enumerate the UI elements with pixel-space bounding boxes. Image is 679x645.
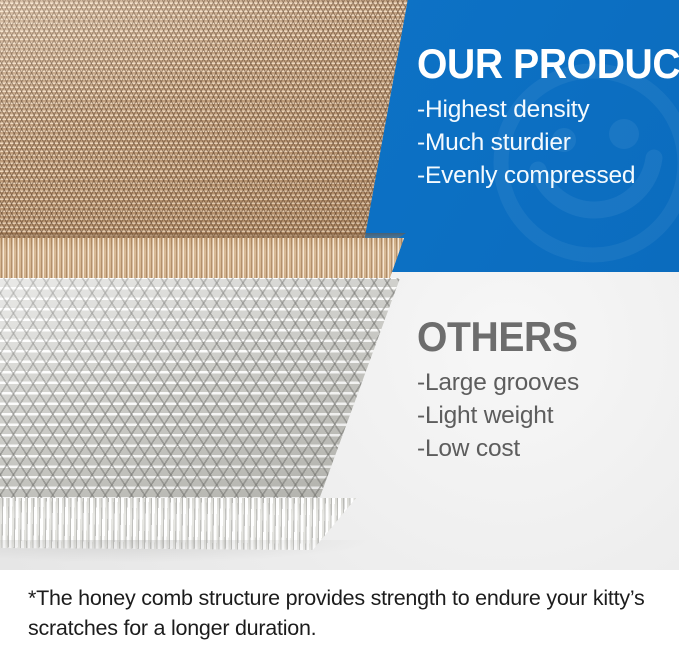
our-product-bullet-item: -Much sturdier [417, 126, 673, 159]
footnote-caption-text: *The honey comb structure provides stren… [28, 583, 656, 643]
cardboard-corrugated-edge [0, 238, 404, 284]
our-product-bullet-list: -Highest density -Much sturdier -Evenly … [417, 93, 673, 192]
footnote-caption: *The honey comb structure provides stren… [0, 570, 679, 645]
our-product-heading: OUR PRODUCT [417, 41, 655, 87]
cardboard-sheen-overlay [0, 0, 408, 260]
our-product-copy-block: OUR PRODUCT -Highest density -Much sturd… [417, 41, 673, 192]
our-product-bullet-item: -Evenly compressed [417, 159, 673, 192]
others-copy-block: OTHERS -Large grooves -Light weight -Low… [417, 314, 673, 465]
others-bullet-item: -Low cost [417, 432, 673, 465]
others-heading: OTHERS [417, 314, 655, 360]
cardboard-honeycomb-photo [0, 0, 408, 260]
others-bullet-list: -Large grooves -Light weight -Low cost [417, 366, 673, 465]
foam-mat-drop-shadow [0, 540, 370, 562]
product-comparison-infographic: OUR PRODUCT -Highest density -Much sturd… [0, 0, 679, 645]
others-bullet-item: -Light weight [417, 399, 673, 432]
others-bullet-item: -Large grooves [417, 366, 673, 399]
comparison-panels: OUR PRODUCT -Highest density -Much sturd… [0, 0, 679, 570]
our-product-bullet-item: -Highest density [417, 93, 673, 126]
